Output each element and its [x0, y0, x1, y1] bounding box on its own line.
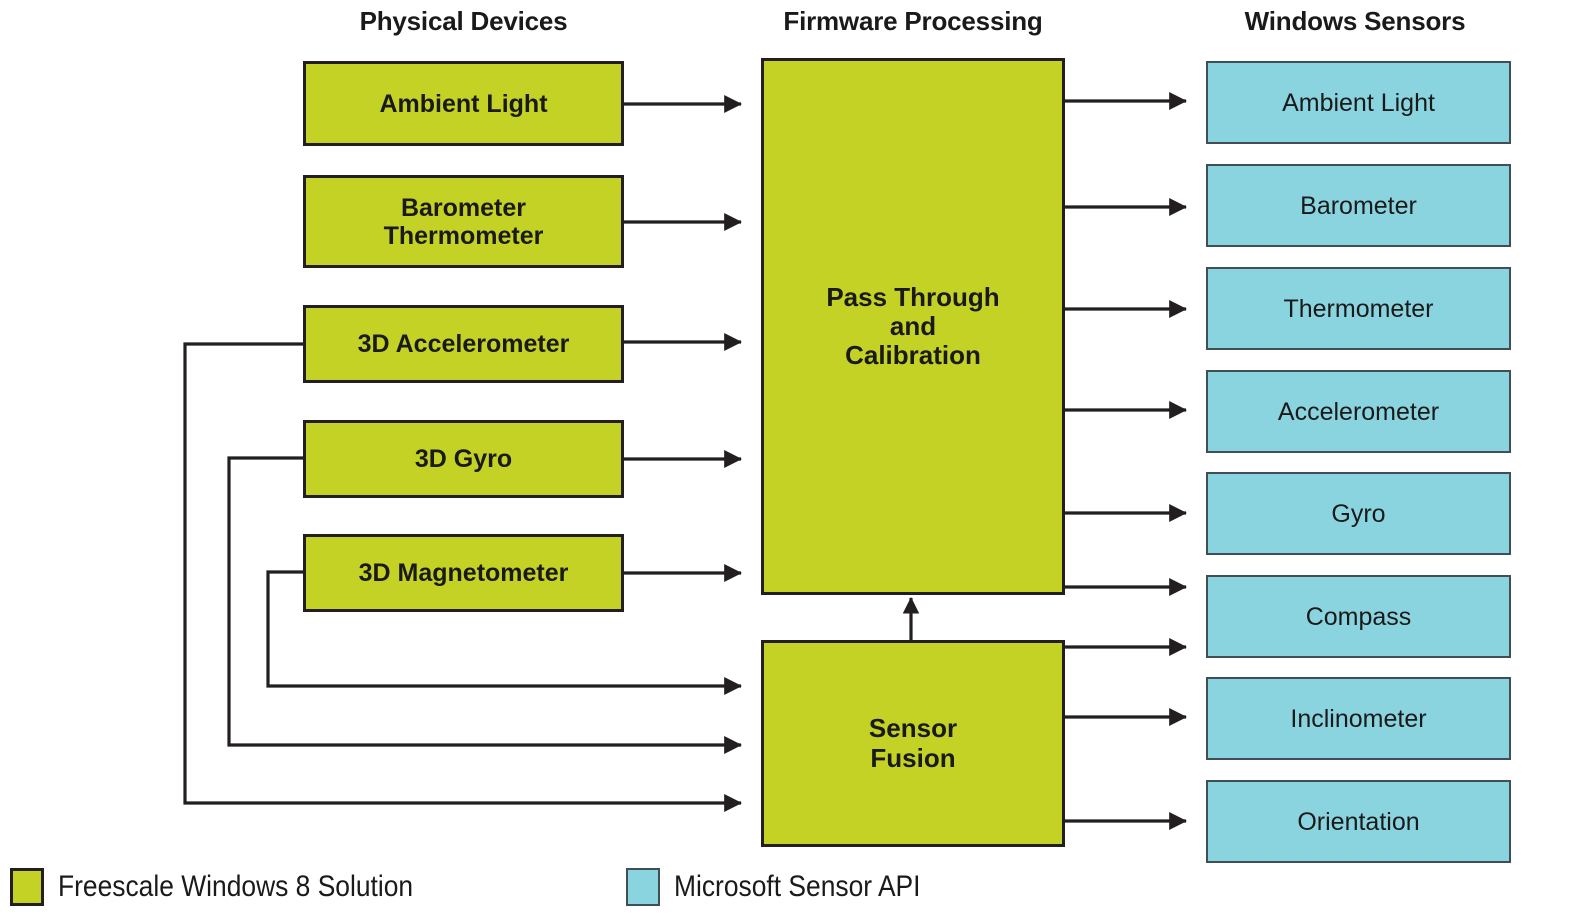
legend-item-freescale: Freescale Windows 8 Solution	[10, 868, 462, 906]
legend-swatch-green	[10, 868, 44, 906]
node-label: Compass	[1306, 603, 1412, 631]
node-label: Barometer Thermometer	[384, 194, 544, 250]
column-title-firmware-processing: Firmware Processing	[740, 6, 1086, 37]
sensor-architecture-diagram: Physical Devices Firmware Processing Win…	[0, 0, 1576, 918]
windows-sensor-accelerometer[interactable]: Accelerometer	[1206, 370, 1511, 453]
firmware-block-pass-through-and-calibration[interactable]: Pass Through and Calibration	[761, 58, 1065, 595]
node-label: Pass Through and Calibration	[826, 283, 999, 370]
windows-sensor-inclinometer[interactable]: Inclinometer	[1206, 677, 1511, 760]
node-label: Barometer	[1300, 192, 1417, 220]
windows-sensor-orientation[interactable]: Orientation	[1206, 780, 1511, 863]
legend-swatch-blue	[626, 868, 660, 906]
windows-sensor-ambient-light[interactable]: Ambient Light	[1206, 61, 1511, 144]
physical-device-barometer-thermometer[interactable]: Barometer Thermometer	[303, 175, 624, 268]
legend-label-microsoft: Microsoft Sensor API	[674, 870, 920, 904]
node-label: Ambient Light	[1282, 89, 1435, 117]
node-label: Gyro	[1331, 500, 1385, 528]
windows-sensor-gyro[interactable]: Gyro	[1206, 472, 1511, 555]
node-label: 3D Accelerometer	[358, 330, 570, 358]
node-label: 3D Gyro	[415, 445, 512, 473]
physical-device-3d-accelerometer[interactable]: 3D Accelerometer	[303, 305, 624, 383]
legend-label-freescale: Freescale Windows 8 Solution	[58, 870, 413, 904]
node-label: Inclinometer	[1290, 705, 1426, 733]
node-label: Orientation	[1297, 808, 1419, 836]
physical-device-ambient-light[interactable]: Ambient Light	[303, 61, 624, 146]
physical-device-3d-magnetometer[interactable]: 3D Magnetometer	[303, 534, 624, 612]
node-label: Accelerometer	[1278, 398, 1439, 426]
column-title-windows-sensors: Windows Sensors	[1190, 6, 1520, 37]
node-label: Thermometer	[1283, 295, 1433, 323]
node-label: Ambient Light	[379, 90, 547, 118]
physical-device-3d-gyro[interactable]: 3D Gyro	[303, 420, 624, 498]
node-label: 3D Magnetometer	[359, 559, 569, 587]
firmware-block-sensor-fusion[interactable]: Sensor Fusion	[761, 640, 1065, 847]
column-title-physical-devices: Physical Devices	[303, 6, 624, 37]
windows-sensor-compass[interactable]: Compass	[1206, 575, 1511, 658]
windows-sensor-thermometer[interactable]: Thermometer	[1206, 267, 1511, 350]
legend-item-microsoft: Microsoft Sensor API	[626, 868, 954, 906]
windows-sensor-barometer[interactable]: Barometer	[1206, 164, 1511, 247]
node-label: Sensor Fusion	[869, 714, 957, 772]
